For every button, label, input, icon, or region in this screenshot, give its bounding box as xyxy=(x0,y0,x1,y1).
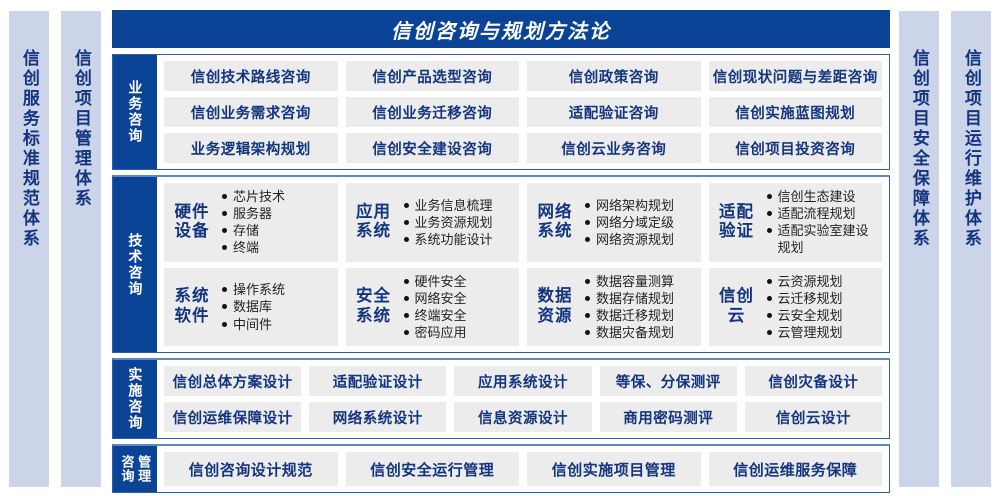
tech-card[interactable]: 网络 系统 网络架构规划 网络分域定级 网络资源规划 xyxy=(527,183,701,262)
tech-card-title: 数据 资源 xyxy=(533,287,577,326)
section-label-text: 实施咨询 xyxy=(128,367,143,431)
section-label-text-col2: 管理 xyxy=(137,455,151,483)
tech-card[interactable]: 系统 软件 操作系统 数据库 中间件 xyxy=(164,268,338,347)
pillar-project-operations: 信创项目运行维护体系 xyxy=(950,10,992,488)
chip-item[interactable]: 信创业务需求咨询 xyxy=(164,97,338,127)
tech-card-item: 信创生态建设 xyxy=(765,188,877,205)
tech-card-item: 云安全规划 xyxy=(765,307,877,324)
tech-card-title: 系统 软件 xyxy=(170,287,214,326)
card-row: 系统 软件 操作系统 数据库 中间件 安全 系统 硬件安全 网络安全 终端安全 xyxy=(164,268,882,347)
tech-card-item: 云资源规划 xyxy=(765,273,877,290)
tech-card-list: 数据容量测算 数据存储规划 数据迁移规划 数据灾备规划 xyxy=(583,273,695,342)
tech-card-item: 网络安全 xyxy=(402,290,514,307)
tech-card-list: 芯片技术 服务器 存储 终端 xyxy=(220,188,332,257)
chip-item[interactable]: 适配验证设计 xyxy=(309,366,446,396)
tech-card-item: 芯片技术 xyxy=(220,188,332,205)
tech-card-item: 数据灾备规划 xyxy=(583,324,695,341)
section-implementation-consulting: 实施咨询 信创总体方案设计 适配验证设计 应用系统设计 等保、分保测评 信创灾备… xyxy=(112,358,890,439)
section-label-implementation: 实施咨询 xyxy=(113,360,157,438)
tech-card-item: 适配实验室建设规划 xyxy=(765,222,877,256)
tech-card-item: 中间件 xyxy=(220,316,332,333)
chip-item[interactable]: 信创技术路线咨询 xyxy=(164,61,338,91)
tech-card-title: 安全 系统 xyxy=(352,287,396,326)
tech-card-list: 硬件安全 网络安全 终端安全 密码应用 xyxy=(402,273,514,342)
tech-card-item: 业务资源规划 xyxy=(402,214,514,231)
tech-card-item: 云管理规划 xyxy=(765,324,877,341)
chip-item[interactable]: 信创产品选型咨询 xyxy=(346,61,520,91)
section-label-management: 咨询 管理 xyxy=(113,446,157,492)
chip-item[interactable]: 信创咨询设计规范 xyxy=(164,452,338,486)
tech-card-item: 云迁移规划 xyxy=(765,290,877,307)
tech-card-title: 硬件 设备 xyxy=(170,203,214,242)
tech-card-title: 应用 系统 xyxy=(352,203,396,242)
tech-card-title: 信创 云 xyxy=(715,287,759,326)
chip-item[interactable]: 业务逻辑架构规划 xyxy=(164,133,338,163)
pillar-label: 信创项目管理体系 xyxy=(72,49,90,209)
chip-item[interactable]: 信创项目投资咨询 xyxy=(709,133,883,163)
chip-item[interactable]: 信创灾备设计 xyxy=(745,366,882,396)
tech-card-item: 网络资源规划 xyxy=(583,231,695,248)
section-body-business: 信创技术路线咨询 信创产品选型咨询 信创政策咨询 信创现状问题与差距咨询 信创业… xyxy=(157,55,889,169)
tech-card-item: 系统功能设计 xyxy=(402,231,514,248)
chip-item[interactable]: 信创业务迁移咨询 xyxy=(346,97,520,127)
pillar-label: 信创项目安全保障体系 xyxy=(910,49,928,249)
tech-card-title: 适配 验证 xyxy=(715,203,759,242)
tech-card-list: 业务信息梳理 业务资源规划 系统功能设计 xyxy=(402,197,514,248)
chip-item[interactable]: 等保、分保测评 xyxy=(600,366,737,396)
tech-card-item: 网络架构规划 xyxy=(583,197,695,214)
tech-card-item: 业务信息梳理 xyxy=(402,197,514,214)
section-consulting-management: 咨询 管理 信创咨询设计规范 信创安全运行管理 信创实施项目管理 信创运维服务保… xyxy=(112,444,890,493)
chip-item[interactable]: 信创总体方案设计 xyxy=(164,366,301,396)
tech-card-item: 数据迁移规划 xyxy=(583,307,695,324)
tech-card-item: 操作系统 xyxy=(220,281,332,298)
section-body-implementation: 信创总体方案设计 适配验证设计 应用系统设计 等保、分保测评 信创灾备设计 信创… xyxy=(157,360,889,438)
tech-card-item: 数据存储规划 xyxy=(583,290,695,307)
section-label-text-col1: 咨询 xyxy=(120,455,134,483)
tech-card-item: 密码应用 xyxy=(402,324,514,341)
tech-card-list: 操作系统 数据库 中间件 xyxy=(220,281,332,332)
tech-card-item: 存储 xyxy=(220,222,332,239)
chip-row: 业务逻辑架构规划 信创安全建设咨询 信创云业务咨询 信创项目投资咨询 xyxy=(164,133,882,163)
section-label-text: 技术咨询 xyxy=(128,233,143,297)
tech-card-item: 终端安全 xyxy=(402,307,514,324)
chip-item[interactable]: 适配验证咨询 xyxy=(527,97,701,127)
methodology-diagram: 信创服务标准规范体系 信创项目管理体系 信创咨询与规划方法论 业务咨询 信创技术… xyxy=(0,0,1000,496)
section-business-consulting: 业务咨询 信创技术路线咨询 信创产品选型咨询 信创政策咨询 信创现状问题与差距咨… xyxy=(112,54,890,170)
chip-item[interactable]: 信息资源设计 xyxy=(454,402,591,432)
pillar-project-security: 信创项目安全保障体系 xyxy=(898,10,940,488)
tech-card-item: 数据库 xyxy=(220,298,332,315)
tech-card[interactable]: 数据 资源 数据容量测算 数据存储规划 数据迁移规划 数据灾备规划 xyxy=(527,268,701,347)
chip-item[interactable]: 信创政策咨询 xyxy=(527,61,701,91)
tech-card-item: 硬件安全 xyxy=(402,273,514,290)
chip-row: 信创咨询设计规范 信创安全运行管理 信创实施项目管理 信创运维服务保障 xyxy=(164,452,882,486)
chip-item[interactable]: 信创安全建设咨询 xyxy=(346,133,520,163)
chip-item[interactable]: 信创安全运行管理 xyxy=(346,452,520,486)
chip-item[interactable]: 应用系统设计 xyxy=(454,366,591,396)
section-label-technical: 技术咨询 xyxy=(113,177,157,352)
tech-card[interactable]: 安全 系统 硬件安全 网络安全 终端安全 密码应用 xyxy=(346,268,520,347)
pillar-project-management: 信创项目管理体系 xyxy=(60,10,102,488)
section-technical-consulting: 技术咨询 硬件 设备 芯片技术 服务器 存储 终端 应用 系统 xyxy=(112,175,890,353)
tech-card-title: 网络 系统 xyxy=(533,203,577,242)
page-title: 信创咨询与规划方法论 xyxy=(112,10,890,48)
chip-item[interactable]: 信创云设计 xyxy=(745,402,882,432)
tech-card-item: 适配流程规划 xyxy=(765,205,877,222)
pillar-label: 信创项目运行维护体系 xyxy=(962,49,980,249)
main-panel: 信创咨询与规划方法论 业务咨询 信创技术路线咨询 信创产品选型咨询 信创政策咨询… xyxy=(112,10,890,488)
section-label-text: 业务咨询 xyxy=(128,80,143,144)
chip-item[interactable]: 商用密码测评 xyxy=(600,402,737,432)
tech-card[interactable]: 适配 验证 信创生态建设 适配流程规划 适配实验室建设规划 xyxy=(709,183,883,262)
tech-card-list: 信创生态建设 适配流程规划 适配实验室建设规划 xyxy=(765,188,877,257)
section-label-business: 业务咨询 xyxy=(113,55,157,169)
tech-card[interactable]: 硬件 设备 芯片技术 服务器 存储 终端 xyxy=(164,183,338,262)
tech-card-list: 云资源规划 云迁移规划 云安全规划 云管理规划 xyxy=(765,273,877,342)
tech-card-item: 网络分域定级 xyxy=(583,214,695,231)
card-row: 硬件 设备 芯片技术 服务器 存储 终端 应用 系统 业务信息梳理 业务资源规划 xyxy=(164,183,882,262)
section-body-management: 信创咨询设计规范 信创安全运行管理 信创实施项目管理 信创运维服务保障 xyxy=(157,446,889,492)
tech-card-item: 终端 xyxy=(220,239,332,256)
chip-item[interactable]: 信创运维保障设计 xyxy=(164,402,301,432)
tech-card[interactable]: 信创 云 云资源规划 云迁移规划 云安全规划 云管理规划 xyxy=(709,268,883,347)
chip-row: 信创运维保障设计 网络系统设计 信息资源设计 商用密码测评 信创云设计 xyxy=(164,402,882,432)
chip-item[interactable]: 信创运维服务保障 xyxy=(709,452,883,486)
tech-card-list: 网络架构规划 网络分域定级 网络资源规划 xyxy=(583,197,695,248)
section-body-technical: 硬件 设备 芯片技术 服务器 存储 终端 应用 系统 业务信息梳理 业务资源规划 xyxy=(157,177,889,352)
tech-card-item: 数据容量测算 xyxy=(583,273,695,290)
chip-item[interactable]: 网络系统设计 xyxy=(309,402,446,432)
chip-row: 信创总体方案设计 适配验证设计 应用系统设计 等保、分保测评 信创灾备设计 xyxy=(164,366,882,396)
pillar-service-standard: 信创服务标准规范体系 xyxy=(8,10,50,488)
tech-card-item: 服务器 xyxy=(220,205,332,222)
pillar-label: 信创服务标准规范体系 xyxy=(20,49,38,249)
chip-item[interactable]: 信创现状问题与差距咨询 xyxy=(709,61,883,91)
chip-row: 信创技术路线咨询 信创产品选型咨询 信创政策咨询 信创现状问题与差距咨询 xyxy=(164,61,882,91)
chip-item[interactable]: 信创实施项目管理 xyxy=(527,452,701,486)
chip-item[interactable]: 信创云业务咨询 xyxy=(527,133,701,163)
tech-card[interactable]: 应用 系统 业务信息梳理 业务资源规划 系统功能设计 xyxy=(346,183,520,262)
chip-row: 信创业务需求咨询 信创业务迁移咨询 适配验证咨询 信创实施蓝图规划 xyxy=(164,97,882,127)
chip-item[interactable]: 信创实施蓝图规划 xyxy=(709,97,883,127)
